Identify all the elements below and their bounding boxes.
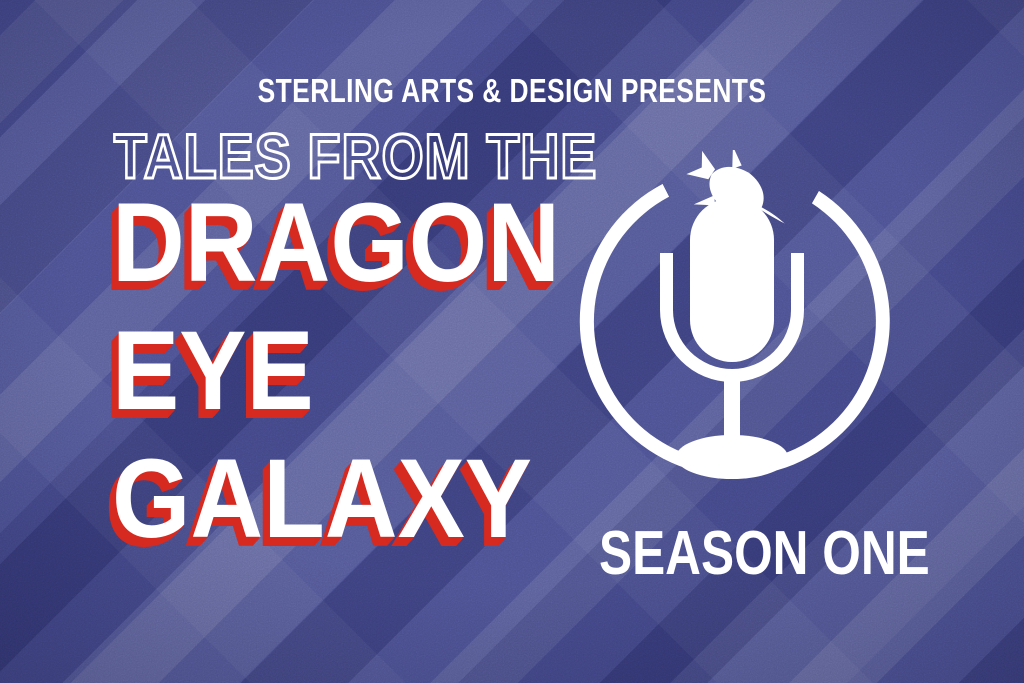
kicker-presents-text: STERLING ARTS & DESIGN PRESENTS (102, 74, 921, 107)
title-line-eye: EYE (112, 319, 490, 423)
season-label: SEASON ONE (599, 523, 863, 585)
title-line-dragon: DRAGON (112, 191, 490, 295)
microphone-icon (660, 198, 804, 479)
content-layer: STERLING ARTS & DESIGN PRESENTS TALES FR… (0, 0, 1024, 683)
title-line-galaxy: GALAXY (112, 447, 490, 551)
podcast-cover-art: STERLING ARTS & DESIGN PRESENTS TALES FR… (0, 0, 1024, 683)
show-title-block: TALES FROM THE DRAGON EYE GALAXY (112, 128, 532, 551)
title-line-tales-from-the: TALES FROM THE (112, 128, 473, 187)
rocket-microphone-circle-logo (566, 150, 896, 500)
